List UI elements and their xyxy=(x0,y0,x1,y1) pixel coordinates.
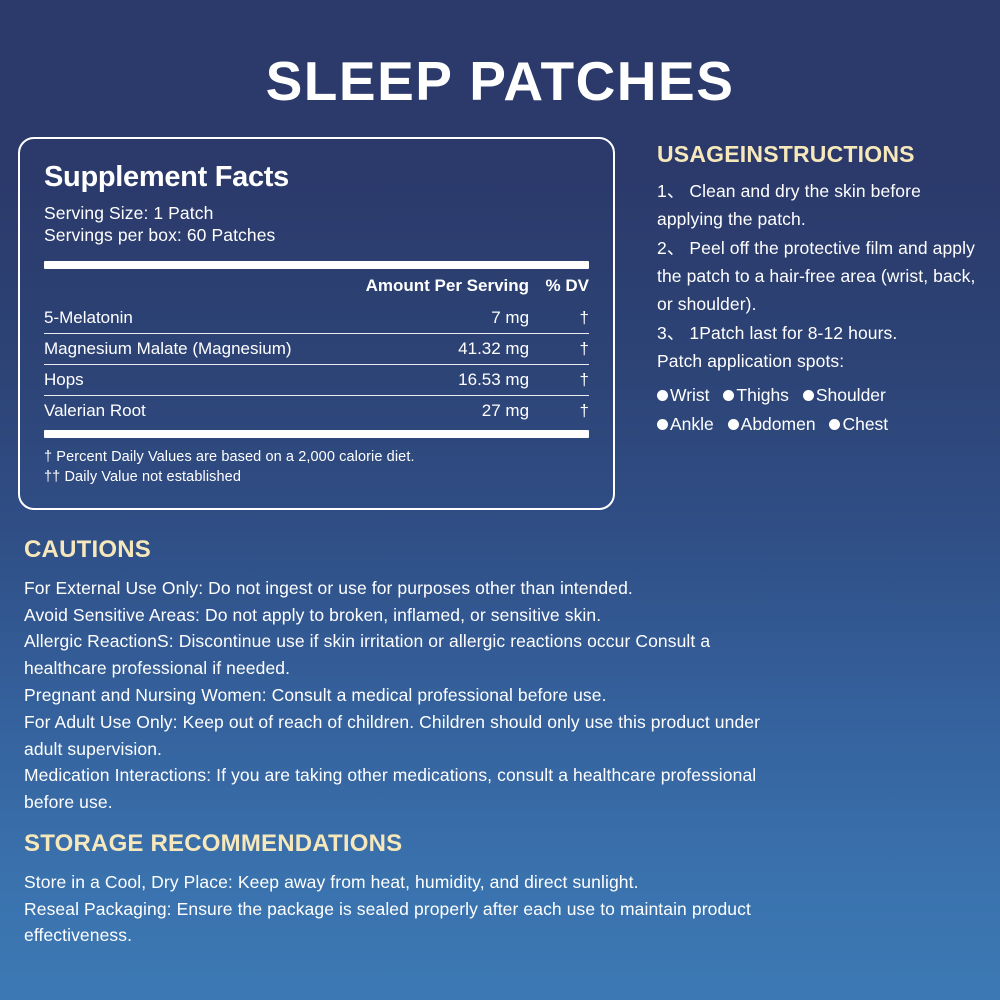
ingredient-dv: † xyxy=(529,303,589,334)
ingredient-amount: 16.53 mg xyxy=(327,364,529,395)
caution-line: Medication Interactions: If you are taki… xyxy=(24,762,784,816)
ingredient-dv: † xyxy=(529,364,589,395)
servings-per-box: Servings per box: 60 Patches xyxy=(44,224,589,246)
spot-label: Chest xyxy=(842,414,888,434)
usage-instructions-section: USAGEINSTRUCTIONS 1、 Clean and dry the s… xyxy=(657,137,987,438)
caution-line: For External Use Only: Do not ingest or … xyxy=(24,575,784,602)
ingredient-name: Magnesium Malate (Magnesium) xyxy=(44,333,327,364)
ingredient-dv: † xyxy=(529,395,589,426)
storage-section: STORAGE RECOMMENDATIONS Store in a Cool,… xyxy=(24,830,784,949)
spot-ankle: Ankle xyxy=(657,414,714,434)
product-label: SLEEP PATCHES Supplement Facts Serving S… xyxy=(0,0,1000,949)
spot-label: Shoulder xyxy=(816,385,886,405)
footnotes: † Percent Daily Values are based on a 2,… xyxy=(44,438,589,488)
ingredient-name: Hops xyxy=(44,364,327,395)
table-row: 5-Melatonin 7 mg † xyxy=(44,303,589,334)
bullet-icon xyxy=(657,419,668,430)
spot-wrist: Wrist xyxy=(657,385,710,405)
spot-label: Wrist xyxy=(670,385,710,405)
ingredient-name: 5-Melatonin xyxy=(44,303,327,334)
table-bottom-bar xyxy=(44,430,589,438)
main-columns: Supplement Facts Serving Size: 1 Patch S… xyxy=(0,137,1000,510)
spots-row-2: Ankle Abdomen Chest xyxy=(657,410,987,438)
table-top-bar xyxy=(44,261,589,269)
storage-line: Reseal Packaging: Ensure the package is … xyxy=(24,896,784,950)
spot-chest: Chest xyxy=(829,414,888,434)
serving-size: Serving Size: 1 Patch xyxy=(44,202,589,224)
table-row: Magnesium Malate (Magnesium) 41.32 mg † xyxy=(44,333,589,364)
bullet-icon xyxy=(728,419,739,430)
supplement-facts-panel: Supplement Facts Serving Size: 1 Patch S… xyxy=(18,137,615,510)
ingredient-amount: 27 mg xyxy=(327,395,529,426)
usage-step-3: 3、 1Patch last for 8-12 hours. xyxy=(657,319,987,347)
ingredient-dv: † xyxy=(529,333,589,364)
spots-row-1: Wrist Thighs Shoulder xyxy=(657,381,987,409)
cautions-heading: CAUTIONS xyxy=(24,536,784,564)
spot-label: Ankle xyxy=(670,414,714,434)
usage-step-1: 1、 Clean and dry the skin before applyin… xyxy=(657,177,987,234)
spots-label: Patch application spots: xyxy=(657,347,987,375)
column-header-amount: Amount Per Serving xyxy=(327,269,529,303)
supplement-facts-heading: Supplement Facts xyxy=(44,161,589,194)
footnote-double-dagger: †† Daily Value not established xyxy=(44,467,589,488)
caution-line: Pregnant and Nursing Women: Consult a me… xyxy=(24,682,784,709)
ingredient-amount: 41.32 mg xyxy=(327,333,529,364)
storage-heading: STORAGE RECOMMENDATIONS xyxy=(24,830,784,858)
ingredient-amount: 7 mg xyxy=(327,303,529,334)
column-header-blank xyxy=(44,269,327,303)
bullet-icon xyxy=(803,390,814,401)
cautions-section: CAUTIONS For External Use Only: Do not i… xyxy=(24,536,784,816)
spot-thighs: Thighs xyxy=(723,385,789,405)
ingredient-name: Valerian Root xyxy=(44,395,327,426)
column-header-dv: % DV xyxy=(529,269,589,303)
footnote-dagger: † Percent Daily Values are based on a 2,… xyxy=(44,447,589,468)
application-spots: Wrist Thighs Shoulder Ankle Abdomen Ches… xyxy=(657,381,987,438)
page-title: SLEEP PATCHES xyxy=(0,0,1000,109)
storage-line: Store in a Cool, Dry Place: Keep away fr… xyxy=(24,869,784,896)
spot-label: Abdomen xyxy=(741,414,816,434)
spot-shoulder: Shoulder xyxy=(803,385,886,405)
bullet-icon xyxy=(829,419,840,430)
caution-line: Allergic ReactionS: Discontinue use if s… xyxy=(24,628,784,682)
bullet-icon xyxy=(657,390,668,401)
usage-heading: USAGEINSTRUCTIONS xyxy=(657,141,987,168)
usage-step-2: 2、 Peel off the protective film and appl… xyxy=(657,234,987,319)
bullet-icon xyxy=(723,390,734,401)
spot-label: Thighs xyxy=(736,385,789,405)
caution-line: For Adult Use Only: Keep out of reach of… xyxy=(24,709,784,763)
table-row: Valerian Root 27 mg † xyxy=(44,395,589,426)
table-body: 5-Melatonin 7 mg † Magnesium Malate (Mag… xyxy=(44,303,589,426)
table-header-row: Amount Per Serving % DV xyxy=(44,269,589,303)
spot-abdomen: Abdomen xyxy=(728,414,816,434)
supplement-facts-table: Amount Per Serving % DV 5-Melatonin 7 mg… xyxy=(44,269,589,426)
table-row: Hops 16.53 mg † xyxy=(44,364,589,395)
caution-line: Avoid Sensitive Areas: Do not apply to b… xyxy=(24,602,784,629)
